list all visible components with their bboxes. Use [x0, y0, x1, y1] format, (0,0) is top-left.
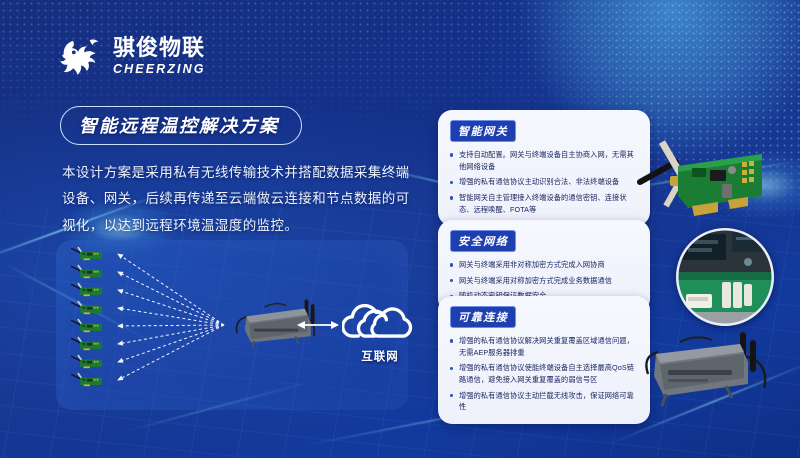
pcb-sensor-module-icon [70, 336, 104, 353]
slide-canvas: 骐俊物联 CHEERZING 智能远程温控解决方案 本设计方案是采用私有无线传输… [0, 0, 800, 458]
card-bullet-list: 增强的私有通信协议解决网关重复覆盖区域通信问题，无需AEP服务器排重 增强的私有… [450, 335, 638, 413]
list-item: 智能网关自主管理接入终端设备的通信密钥、连接状态、远程唤醒、FOTA等 [450, 192, 638, 215]
cloud-icon [342, 300, 416, 344]
list-item: 增强的私有通信协议解决网关重复覆盖区域通信问题，无需AEP服务器排重 [450, 335, 638, 358]
brand-name-en: CHEERZING [113, 63, 206, 76]
industrial-gateway-photo [640, 330, 776, 408]
page-title: 智能远程温控解决方案 [60, 106, 302, 145]
bull-head-logo-icon [58, 33, 104, 79]
pcb-sensor-module-icon [70, 372, 104, 389]
list-item: 网关与终端采用对称加密方式完成业务数据通信 [450, 275, 638, 287]
list-item: 增强的私有通信协议主动识别合法、非法终端设备 [450, 176, 638, 188]
pcb-sensor-module-icon [70, 282, 104, 299]
architecture-diagram: 互联网 [56, 240, 408, 410]
list-item: 增强的私有通信协议主动拦截无线攻击，保证网络可靠性 [450, 390, 638, 413]
pcb-sensor-module-icon [70, 318, 104, 335]
pcie-wireless-card-photo [636, 136, 786, 228]
card-title: 安全网络 [450, 230, 516, 252]
list-item: 支持自动配置。网关与终端设备自主协商入网，无需其他网络设备 [450, 149, 638, 172]
list-item: 增强的私有通信协议使能终端设备自主选择最高QoS链路通信，避免接入网关重复覆盖的… [450, 362, 638, 385]
pcb-sensor-module-icon [70, 264, 104, 281]
brand-logo[interactable]: 骐俊物联 CHEERZING [58, 33, 206, 79]
card-bullet-list: 支持自动配置。网关与终端设备自主协商入网，无需其他网络设备 增强的私有通信协议主… [450, 149, 638, 215]
pcb-sensor-module-icon [70, 300, 104, 317]
double-arrow-icon [296, 318, 340, 332]
list-item: 网关与终端采用非对称加密方式完成入网协商 [450, 259, 638, 271]
brand-name-cn: 骐俊物联 [113, 37, 206, 59]
pcb-sensor-module-icon [70, 354, 104, 371]
intro-paragraph: 本设计方案是采用私有无线传输技术并搭配数据采集终端设备、网关，后续再传递至云端做… [62, 160, 412, 239]
pcb-sensor-module-icon [70, 246, 104, 263]
info-card-smart-gateway: 智能网关 支持自动配置。网关与终端设备自主协商入网，无需其他网络设备 增强的私有… [438, 110, 650, 226]
card-title: 智能网关 [450, 120, 516, 142]
cloud-label: 互联网 [340, 348, 420, 364]
card-title: 可靠连接 [450, 306, 516, 328]
pcb-closeup-circle-photo [676, 228, 774, 326]
info-card-reliable-connection: 可靠连接 增强的私有通信协议解决网关重复覆盖区域通信问题，无需AEP服务器排重 … [438, 296, 650, 424]
